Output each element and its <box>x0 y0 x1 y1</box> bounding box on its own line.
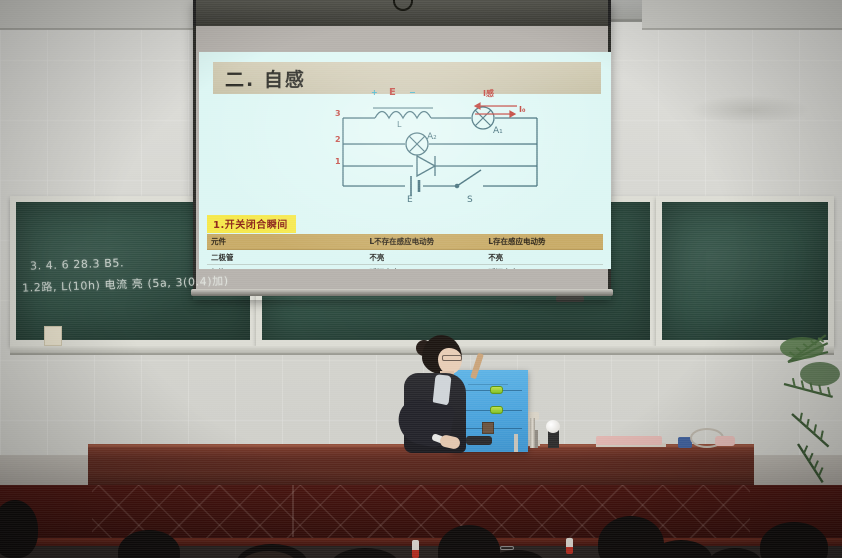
table-cell: 二极管 <box>207 250 365 265</box>
lamp-a2-symbol <box>406 133 428 155</box>
wall-smudge <box>690 95 810 125</box>
slide-section-header: 1.开关闭合瞬间 <box>207 215 296 233</box>
table-row: 灯泡A2 瞬间变亮 瞬间变亮 <box>207 265 603 270</box>
projection-screen: 二. 自感 <box>193 0 611 300</box>
screen-housing <box>193 0 611 26</box>
node-label-1: 1 <box>335 157 341 166</box>
induced-current-label: I感 <box>483 88 494 99</box>
lamp-a1-label: A₁ <box>493 126 503 136</box>
table-cell: 灯泡A2 <box>207 265 365 270</box>
battery-label: E <box>407 195 413 205</box>
demo-board-leg <box>514 434 518 452</box>
screen-hook-icon <box>393 0 413 11</box>
soffit-left <box>0 0 200 30</box>
chalk-eraser <box>44 326 62 346</box>
audience-glasses-icon <box>500 546 514 550</box>
diode-symbol <box>417 156 435 176</box>
table-cell: 不亮 <box>484 250 603 265</box>
switch-symbol <box>455 170 481 188</box>
table-header-cell: 元件 <box>207 234 365 250</box>
screen-bottom-bar <box>191 289 613 296</box>
soffit-right <box>642 0 842 30</box>
emf-label: E <box>389 87 396 98</box>
screen-surface: 二. 自感 <box>193 26 611 291</box>
lamp-a1-symbol <box>472 107 494 129</box>
glasses-icon <box>442 355 462 361</box>
slide-content: 二. 自感 <box>199 52 611 269</box>
table-cell: 不亮 <box>365 250 484 265</box>
water-bottle <box>566 538 573 554</box>
polarity-plus-label: + <box>371 88 378 97</box>
table-header-row: 元件 L不存在感应电动势 L存在感应电动势 <box>207 234 603 250</box>
table-cell: 瞬间变亮 <box>484 265 603 270</box>
table-cell: 瞬间变亮 <box>365 265 484 270</box>
current-arrows <box>475 103 517 117</box>
equipment-bulb <box>546 420 560 433</box>
panel-seam <box>292 485 294 537</box>
main-current-label: I₀ <box>519 105 525 114</box>
switch-label: S <box>467 195 473 205</box>
teacher-figure <box>396 335 506 450</box>
lamp-a2-label: A₂ <box>427 132 437 142</box>
equipment-pink-block <box>715 436 735 446</box>
battery-symbol <box>411 176 419 196</box>
water-bottle <box>412 540 419 558</box>
circuit-diagram: 3 2 1 + E − I感 I₀ <box>331 100 551 208</box>
teacher-pointer <box>470 353 484 380</box>
equipment-pink-case <box>596 436 662 445</box>
table-header-cell: L存在感应电动势 <box>484 234 603 250</box>
potted-plant <box>736 322 842 492</box>
demo-support-rod <box>530 418 535 448</box>
node-label-3: 3 <box>335 109 341 118</box>
slide-results-table: 元件 L不存在感应电动势 L存在感应电动势 二极管 不亮 不亮 灯泡A2 <box>207 234 603 269</box>
screenshot-root: 3. 4. 6 28.3 B5. 1.2路, L(10h) 电流 亮 (5a, … <box>0 0 842 558</box>
table-header-cell: L不存在感应电动势 <box>365 234 484 250</box>
teacher-scarf <box>432 374 451 406</box>
inductor-symbol <box>373 108 433 118</box>
inductor-label: L <box>397 120 401 129</box>
node-label-2: 2 <box>335 135 341 144</box>
table-row: 二极管 不亮 不亮 <box>207 250 603 265</box>
slide-title: 二. 自感 <box>225 65 306 92</box>
polarity-minus-label: − <box>409 88 416 97</box>
